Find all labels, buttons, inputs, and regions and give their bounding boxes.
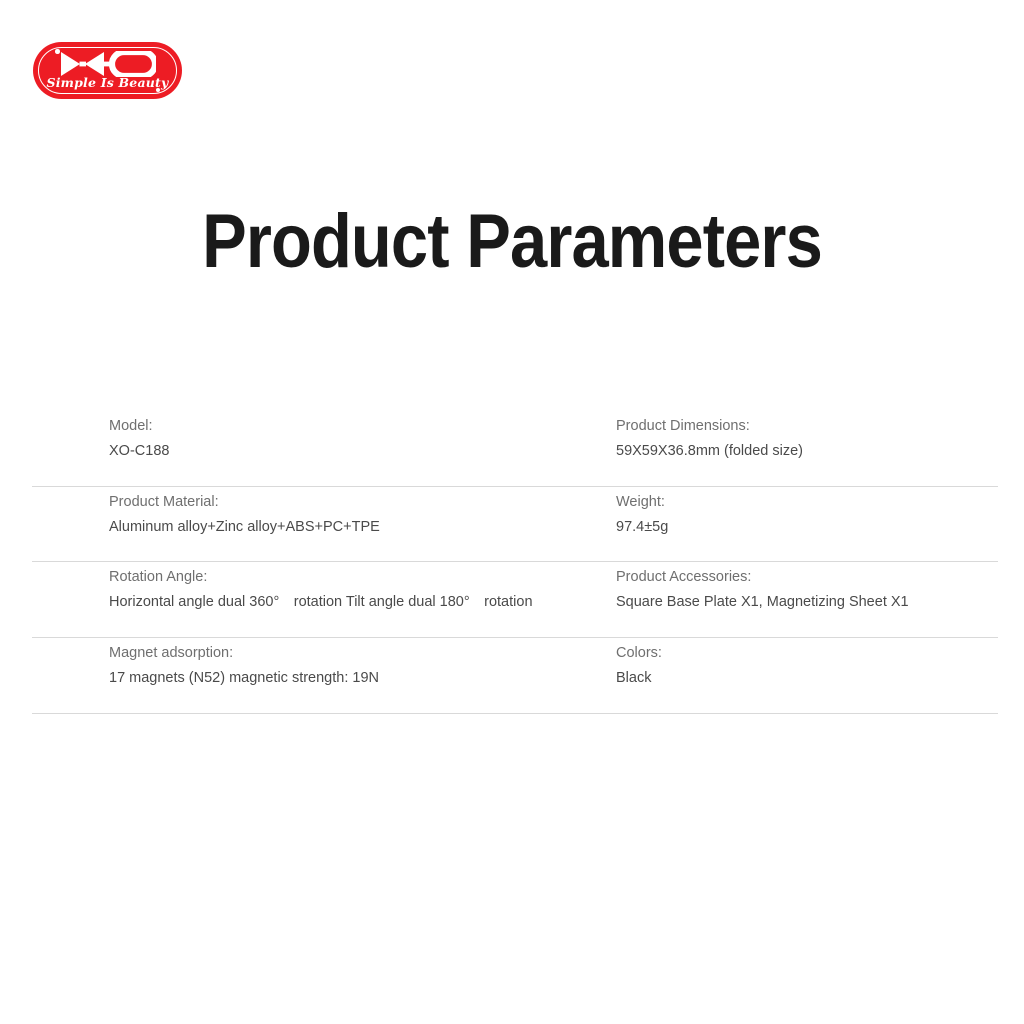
table-row: Magnet adsorption: 17 magnets (N52) magn… xyxy=(32,638,998,714)
spec-cell-model: Model: XO-C188 xyxy=(32,411,616,486)
spec-label: Model: xyxy=(109,414,616,439)
spec-cell-product-accessories: Product Accessories: Square Base Plate X… xyxy=(616,562,998,637)
spec-label: Weight: xyxy=(616,490,998,515)
xo-wordmark-icon xyxy=(60,51,156,77)
table-row: Model: XO-C188 Product Dimensions: 59X59… xyxy=(32,411,998,487)
spec-value: Horizontal angle dual 360° rotation Tilt… xyxy=(109,590,616,615)
spec-cell-product-dimensions: Product Dimensions: 59X59X36.8mm (folded… xyxy=(616,411,998,486)
spec-value: 17 magnets (N52) magnetic strength: 19N xyxy=(109,666,616,691)
spec-label: Product Dimensions: xyxy=(616,414,998,439)
spec-label: Magnet adsorption: xyxy=(109,641,616,666)
spec-value: Black xyxy=(616,666,998,691)
spec-label: Product Accessories: xyxy=(616,565,998,590)
spec-value: 97.4±5g xyxy=(616,515,998,540)
logo-dot-top-left xyxy=(55,49,60,54)
page-title: Product Parameters xyxy=(61,196,962,288)
spec-label: Colors: xyxy=(616,641,998,666)
table-row: Rotation Angle: Horizontal angle dual 36… xyxy=(32,562,998,638)
spec-cell-rotation-angle: Rotation Angle: Horizontal angle dual 36… xyxy=(32,562,616,637)
product-parameters-table: Model: XO-C188 Product Dimensions: 59X59… xyxy=(32,411,998,714)
spec-value: Square Base Plate X1, Magnetizing Sheet … xyxy=(616,590,998,615)
logo-tagline: Simple Is Beauty xyxy=(33,75,182,90)
spec-value: Aluminum alloy+Zinc alloy+ABS+PC+TPE xyxy=(109,515,616,540)
table-row: Product Material: Aluminum alloy+Zinc al… xyxy=(32,487,998,563)
xo-logo: Simple Is Beauty xyxy=(33,42,182,99)
spec-cell-colors: Colors: Black xyxy=(616,638,998,713)
spec-value: XO-C188 xyxy=(109,439,616,464)
spec-cell-product-material: Product Material: Aluminum alloy+Zinc al… xyxy=(32,487,616,562)
spec-cell-magnet-adsorption: Magnet adsorption: 17 magnets (N52) magn… xyxy=(32,638,616,713)
spec-label: Rotation Angle: xyxy=(109,565,616,590)
spec-cell-weight: Weight: 97.4±5g xyxy=(616,487,998,562)
spec-value: 59X59X36.8mm (folded size) xyxy=(616,439,998,464)
spec-label: Product Material: xyxy=(109,490,616,515)
